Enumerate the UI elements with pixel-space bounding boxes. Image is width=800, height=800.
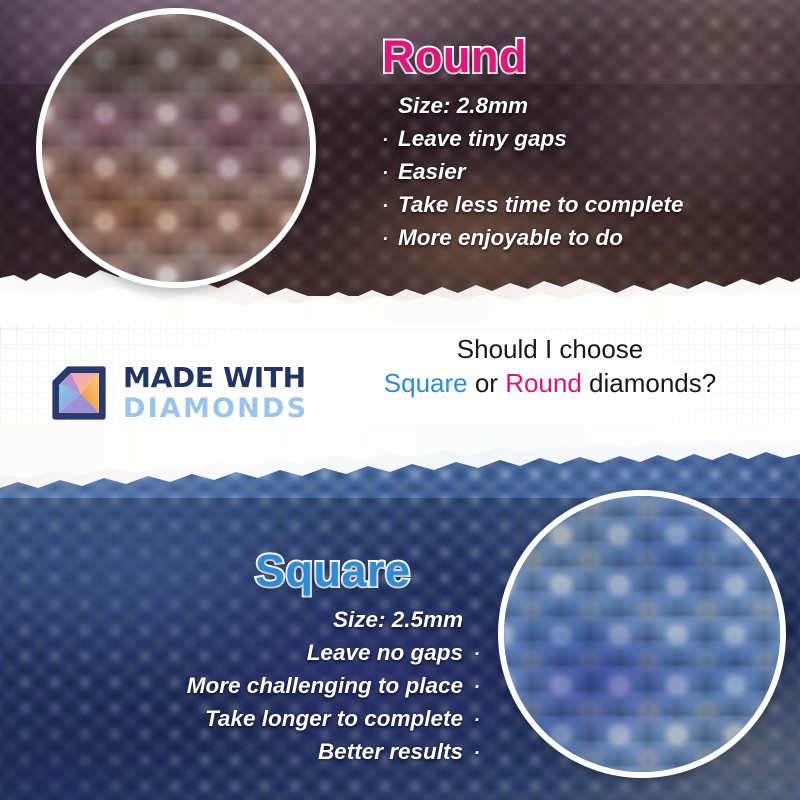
round-size-item: · Size: 2.8mm (382, 89, 794, 122)
square-list-item: More challenging to place · (10, 669, 480, 702)
brand-line-1: MADE WITH (123, 364, 308, 392)
round-list-item: · Easier (382, 155, 794, 188)
round-diamonds-zoom-circle (36, 8, 316, 288)
round-heading: Round (382, 34, 794, 79)
round-zoom-color-tint (42, 14, 310, 282)
brand-wordmark: MADE WITH DIAMONDS (123, 364, 308, 422)
square-list-item: Leave no gaps · (10, 636, 480, 669)
square-text-block: Square Size: 2.5mm · Leave no gaps · Mor… (10, 548, 480, 768)
brand-logo[interactable]: MADE WITH DIAMONDS (48, 362, 308, 424)
infographic-canvas: Round · Size: 2.8mm · Leave tiny gaps · … (0, 0, 800, 800)
square-list-item-label: Better results (318, 735, 463, 768)
square-zoom-inner (504, 496, 780, 772)
square-size-item: Size: 2.5mm · (10, 603, 480, 636)
bullet-dot-icon: · (382, 131, 390, 150)
round-list-item-label: Leave tiny gaps (398, 122, 567, 155)
square-feature-list: Size: 2.5mm · Leave no gaps · More chall… (10, 603, 480, 768)
bullet-dot-icon: · (472, 678, 480, 697)
square-list-item-label: Leave no gaps (307, 636, 463, 669)
square-list-item-label: More challenging to place (187, 669, 463, 702)
square-zoom-color-tint (504, 496, 780, 772)
headline-connector: or (468, 368, 506, 398)
round-list-item: · Take less time to complete (382, 188, 794, 221)
square-size-label: Size: 2.5mm (333, 603, 463, 636)
headline-tail: diamonds? (582, 368, 716, 398)
bullet-dot-icon: · (382, 197, 390, 216)
round-list-item-label: More enjoyable to do (398, 221, 623, 254)
round-size-label: Size: 2.8mm (398, 89, 528, 122)
headline-line-2: Square or Round diamonds? (330, 368, 770, 400)
round-feature-list: · Size: 2.8mm · Leave tiny gaps · Easier… (382, 89, 794, 254)
bullet-dot-icon: · (472, 711, 480, 730)
headline-square-word: Square (384, 368, 468, 398)
square-list-item: Better results · (10, 735, 480, 768)
bullet-dot-icon: · (382, 164, 390, 183)
round-zoom-inner (42, 14, 310, 282)
square-list-item: Take longer to complete · (10, 702, 480, 735)
diamond-logo-mark (48, 362, 110, 424)
square-heading: Square (10, 548, 480, 593)
square-diamonds-zoom-circle (498, 490, 786, 778)
headline-line-1: Should I choose (330, 334, 770, 366)
headline-round-word: Round (505, 368, 582, 398)
round-list-item-label: Take less time to complete (398, 188, 684, 221)
brand-line-2: DIAMONDS (123, 395, 308, 422)
round-list-item: · More enjoyable to do (382, 221, 794, 254)
bullet-dot-icon: · (382, 230, 390, 249)
bullet-dot-icon: · (472, 645, 480, 664)
round-list-item-label: Easier (398, 155, 466, 188)
headline-question: Should I choose Square or Round diamonds… (330, 334, 770, 399)
square-list-item-label: Take longer to complete (205, 702, 463, 735)
bullet-dot-icon: · (472, 744, 480, 763)
round-text-block: Round · Size: 2.8mm · Leave tiny gaps · … (382, 34, 794, 254)
round-list-item: · Leave tiny gaps (382, 122, 794, 155)
